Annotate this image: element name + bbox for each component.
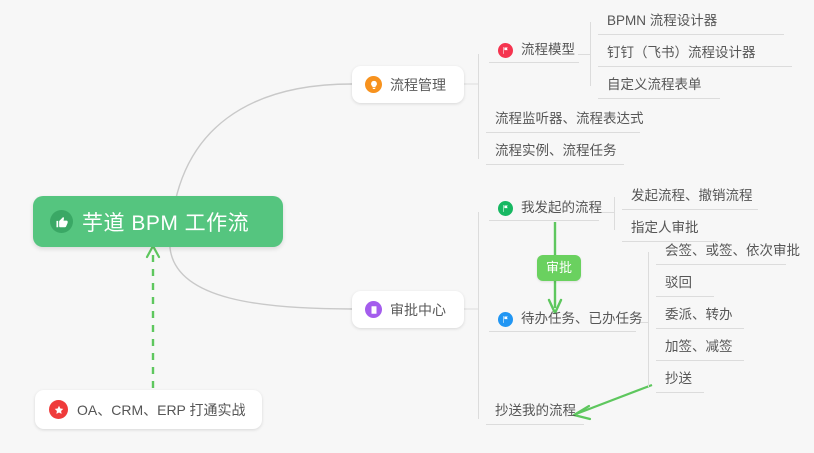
lightbulb-icon: [365, 76, 382, 93]
leaf-label: 我发起的流程: [521, 199, 602, 217]
leaf-assignee-approval[interactable]: 指定人审批: [622, 219, 718, 242]
root-label: 芋道 BPM 工作流: [82, 207, 249, 237]
flag-icon-green: [498, 201, 513, 216]
bracket-approval-center: [478, 212, 479, 419]
leaf-process-instance[interactable]: 流程实例、流程任务: [486, 142, 624, 165]
leaf-label: 流程监听器、流程表达式: [495, 111, 644, 126]
leaf-bpmn-designer[interactable]: BPMN 流程设计器: [598, 12, 784, 35]
leaf-process-model[interactable]: 流程模型: [489, 41, 579, 63]
leaf-label: 会签、或签、依次审批: [665, 243, 800, 258]
stem-my-processes: [600, 212, 614, 213]
leaf-delegate-transfer[interactable]: 委派、转办: [656, 306, 744, 329]
bottom-note-label: OA、CRM、ERP 打通实战: [77, 400, 246, 420]
star-icon: [49, 400, 68, 419]
leaf-todo-done-tasks[interactable]: 待办任务、已办任务: [489, 310, 636, 332]
bracket-todo-tasks: [648, 252, 649, 387]
leaf-label: BPMN 流程设计器: [607, 13, 717, 28]
branch-node-approval-center[interactable]: 审批中心: [352, 291, 464, 328]
root-node[interactable]: 芋道 BPM 工作流: [33, 196, 283, 247]
leaf-label: 待办任务、已办任务: [521, 310, 643, 328]
leaf-label: 钉钉（飞书）流程设计器: [607, 45, 756, 60]
leaf-label: 委派、转办: [665, 307, 733, 322]
dashed-arrow-head: [147, 246, 159, 257]
flag-icon-red: [498, 43, 513, 58]
leaf-custom-form[interactable]: 自定义流程表单: [598, 76, 720, 99]
leaf-dingtalk-designer[interactable]: 钉钉（飞书）流程设计器: [598, 44, 792, 67]
leaf-label: 抄送: [665, 371, 692, 386]
leaf-cc[interactable]: 抄送: [656, 370, 704, 393]
leaf-add-remove-sign[interactable]: 加签、减签: [656, 338, 744, 361]
leaf-my-processes[interactable]: 我发起的流程: [489, 199, 599, 221]
bottom-note-node[interactable]: OA、CRM、ERP 打通实战: [35, 390, 262, 429]
branch-label-approval-center: 审批中心: [390, 300, 446, 320]
stem-process-model: [578, 54, 590, 55]
leaf-start-cancel-process[interactable]: 发起流程、撤销流程: [622, 187, 758, 210]
link-root-to-approval-center: [170, 248, 352, 309]
leaf-label: 抄送我的流程: [495, 403, 576, 418]
leaf-cc-my-processes[interactable]: 抄送我的流程: [486, 402, 584, 425]
leaf-label: 指定人审批: [631, 220, 699, 235]
thumbs-up-icon: [50, 210, 73, 233]
leaf-process-listener[interactable]: 流程监听器、流程表达式: [486, 110, 640, 133]
bracket-my-processes: [614, 197, 615, 230]
leaf-label: 发起流程、撤销流程: [631, 188, 753, 203]
cc-arrow-shaft: [576, 385, 652, 414]
leaf-label: 加签、减签: [665, 339, 733, 354]
bracket-process-mgmt: [478, 54, 479, 159]
leaf-countersign[interactable]: 会签、或签、依次审批: [656, 242, 786, 265]
branch-label-process-mgmt: 流程管理: [390, 75, 446, 95]
leaf-label: 驳回: [665, 275, 692, 290]
leaf-label: 自定义流程表单: [607, 77, 702, 92]
bracket-process-model: [590, 22, 591, 86]
document-icon: [365, 301, 382, 318]
approval-badge: 审批: [537, 255, 581, 281]
flag-icon-blue: [498, 312, 513, 327]
leaf-label: 流程实例、流程任务: [495, 143, 617, 158]
mindmap-canvas: 芋道 BPM 工作流 流程管理 流程模型 BPMN 流程设计器 钉钉（飞书）流程…: [0, 0, 814, 453]
leaf-label: 流程模型: [521, 41, 575, 59]
branch-node-process-mgmt[interactable]: 流程管理: [352, 66, 464, 103]
leaf-reject[interactable]: 驳回: [656, 274, 714, 297]
